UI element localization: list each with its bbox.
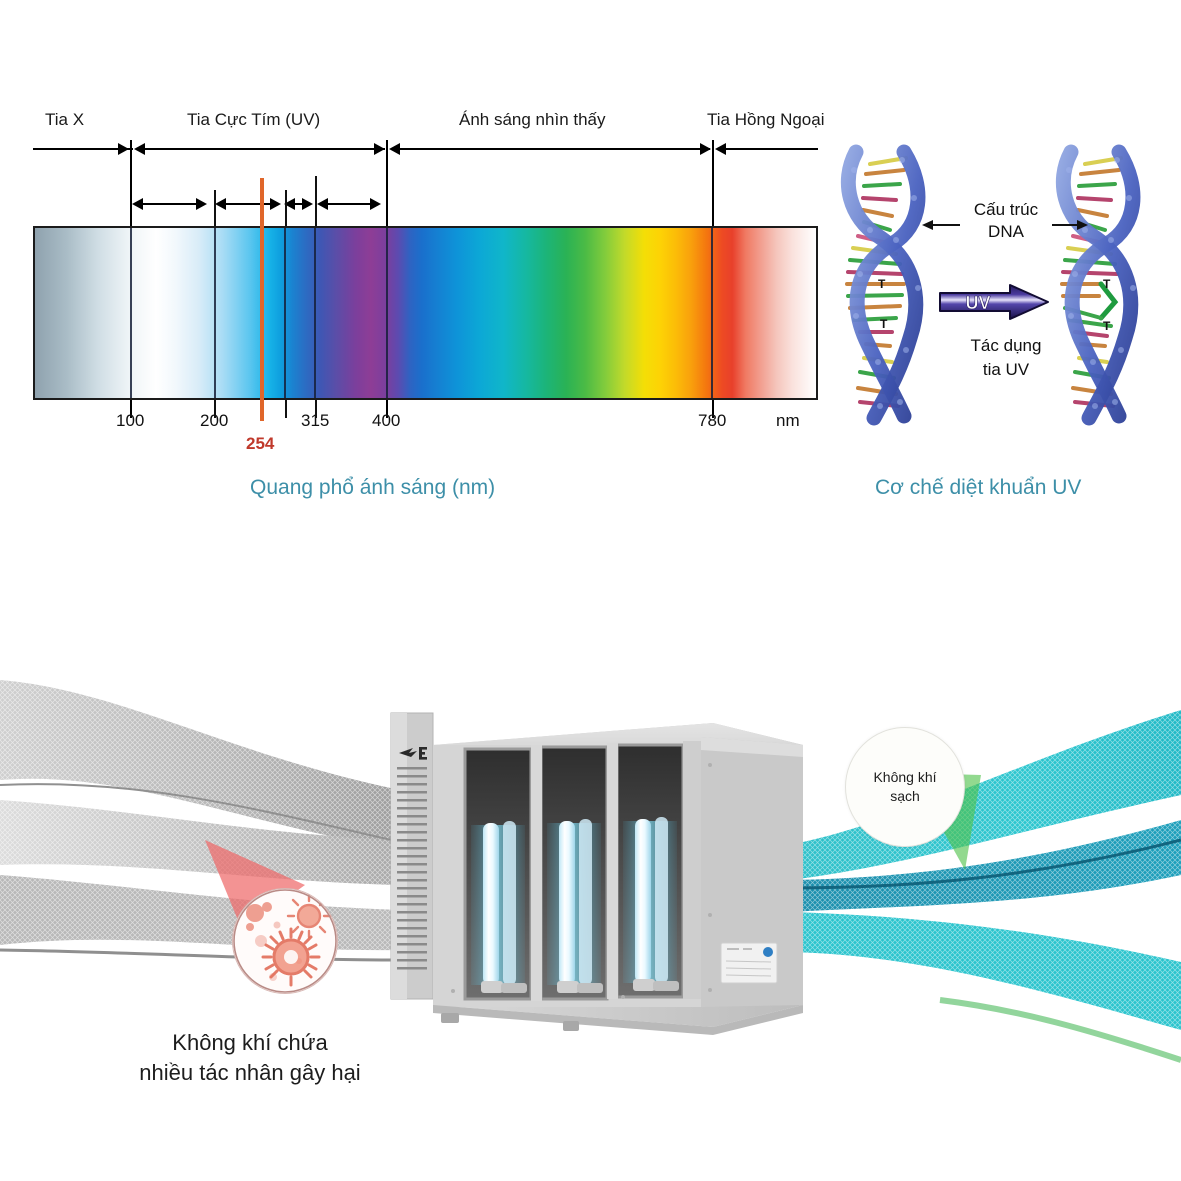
spectrum-separator-2 [214, 228, 216, 398]
tick-label-100: 100 [116, 411, 144, 431]
uv-arrow-label: UV [965, 293, 990, 313]
marker-line-254 [260, 178, 264, 421]
arrow-head-uv-left [134, 143, 145, 155]
dna-structure-label-line2: DNA [948, 222, 1064, 242]
dna-base-letter-left-2: T [880, 317, 888, 331]
spectrum-separator-6 [711, 228, 713, 398]
dirty-air-caption-line1: Không khí chứa [172, 1030, 327, 1055]
uv-arrow-shape [940, 285, 1048, 319]
arrow-line-uv [145, 148, 385, 150]
uv-lamp-chamber-1 [465, 749, 531, 999]
arrow-head-visible-right [700, 143, 711, 155]
clean-air-label-line2: sạch [890, 788, 920, 804]
tick-label-200: 200 [200, 411, 228, 431]
device-control-panel[interactable] [721, 943, 777, 983]
arrow-head-visible-left [389, 143, 400, 155]
power-indicator-icon [763, 947, 773, 957]
uv-air-purifier-device [383, 705, 813, 1050]
band-label-uv: Tia Cực Tím (UV) [187, 110, 320, 130]
arrow-head-uvb-right [270, 198, 281, 210]
arrow-line-uva [328, 203, 374, 205]
device-foot-left [441, 1013, 459, 1023]
contaminant-magnifier [232, 888, 338, 994]
uv-arrow-graphic: UV [938, 283, 1050, 321]
dna-base-letter-right-2: T [1103, 319, 1111, 333]
uv-effect-label-line1: Tác dụng [940, 336, 1072, 356]
tick-label-780: 780 [698, 411, 726, 431]
arrow-line-infrared [726, 148, 818, 150]
arrow-head-xray-right [118, 143, 129, 155]
spectrum-separator-4 [314, 228, 316, 398]
band-label-infrared: Tia Hồng Ngoại [707, 110, 825, 130]
tick-label-400: 400 [372, 411, 400, 431]
arrow-head-uvc-left [132, 198, 143, 210]
dna-structure-label-line1: Cấu trúc [948, 200, 1064, 220]
dna-base-letter-left-1: T [878, 277, 886, 291]
arrow-head-uva-right [370, 198, 381, 210]
dirty-air-caption-line2: nhiều tác nhân gây hại [139, 1060, 360, 1085]
uv-lamp-chamber-3 [617, 745, 683, 997]
band-label-xray: Tia X [45, 110, 84, 130]
arrow-head-uva-left [317, 198, 328, 210]
clean-air-label: Không khísạch [873, 768, 936, 806]
dna-base-letter-right-1: T [1103, 277, 1111, 291]
clean-airflow-graphic [790, 700, 1181, 1100]
arrow-head-uvb-left [215, 198, 226, 210]
arrow-head-uvc-right [196, 198, 207, 210]
clean-air-callout: Không khísạch [845, 727, 965, 847]
dna-caption: Cơ chế diệt khuẩn UV [875, 476, 1081, 500]
dna-pointer-arrow-left [922, 220, 933, 230]
arrow-head-uv-right [374, 143, 385, 155]
band-label-visible: Ánh sáng nhìn thấy [459, 110, 606, 130]
arrow-line-uvb [226, 203, 276, 205]
spectrum-separator-5 [386, 228, 388, 398]
clean-air-label-line1: Không khí [873, 769, 936, 785]
unit-label-nm: nm [776, 411, 800, 431]
spectrum-color-bar [33, 226, 818, 400]
device-foot-mid [563, 1021, 579, 1031]
arrow-line-visible [400, 148, 710, 150]
uv-dna-mechanism-diagram: T T [830, 140, 1181, 520]
uv-effect-label-line2: tia UV [940, 360, 1072, 380]
spectrum-separator-1 [130, 228, 132, 398]
spectrum-separator-3 [284, 228, 286, 398]
spectrum-caption: Quang phổ ánh sáng (nm) [250, 476, 495, 500]
tick-label-254: 254 [246, 434, 274, 454]
arrow-head-uvsub-right [302, 198, 313, 210]
light-spectrum-diagram: Tia X Tia Cực Tím (UV) Ánh sáng nhìn thấ… [0, 0, 830, 520]
tick-label-315: 315 [301, 411, 329, 431]
uv-lamp-chamber-2 [541, 747, 607, 999]
arrow-head-infrared-left [715, 143, 726, 155]
spectrum-gradient [35, 228, 816, 398]
dirty-air-caption: Không khí chứa nhiều tác nhân gây hại [105, 1028, 395, 1087]
